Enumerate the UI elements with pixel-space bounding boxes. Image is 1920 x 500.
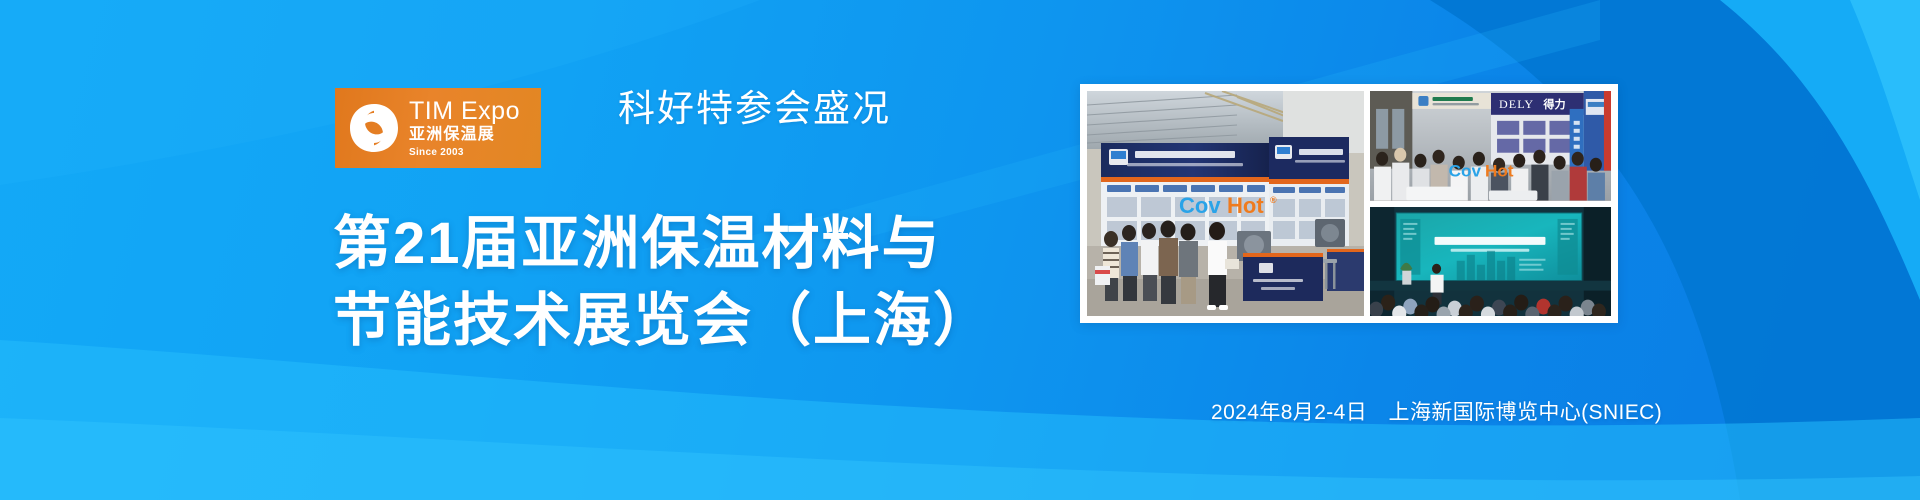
svg-text:DELY: DELY [1499, 97, 1534, 111]
svg-text:Cov: Cov [1449, 162, 1482, 181]
headline-line-1: 第21届亚洲保温材料与 [333, 205, 993, 282]
forum-stage-photo[interactable] [1370, 207, 1611, 317]
logo-subtitle: 亚洲保温展 [409, 127, 520, 143]
logo-text-block: TIM Expo 亚洲保温展 Since 2003 [409, 99, 520, 158]
svg-text:®: ® [1270, 195, 1277, 205]
logo-since-year: Since 2003 [409, 148, 520, 158]
collage-right-column: DELY 得力 [1370, 91, 1611, 316]
exhibition-promo-banner: TIM Expo 亚洲保温展 Since 2003 科好特参会盛况 第21届亚洲… [0, 0, 1920, 500]
tim-expo-swoosh-icon [347, 101, 401, 155]
svg-text:Hot: Hot [1227, 193, 1264, 218]
tagline: 科好特参会盛况 [618, 78, 891, 132]
tim-expo-logo-badge[interactable]: TIM Expo 亚洲保温展 Since 2003 [335, 88, 541, 168]
page-title: 第21届亚洲保温材料与 节能技术展览会（上海） [333, 205, 993, 359]
svg-text:得力: 得力 [1542, 97, 1565, 111]
headline-line-2: 节能技术展览会（上海） [333, 282, 993, 359]
svg-text:Cov: Cov [1179, 193, 1221, 218]
photo-collage: Cov Hot ® [1080, 84, 1618, 323]
exhibition-booth-photo[interactable]: Cov Hot ® [1087, 91, 1364, 316]
exhibition-crowd-photo[interactable]: DELY 得力 [1370, 91, 1611, 201]
svg-text:Hot: Hot [1485, 162, 1514, 181]
logo-title: TIM Expo [409, 99, 520, 124]
date-venue-text: 2024年8月2-4日 上海新国际博览中心(SNIEC) [1211, 396, 1662, 426]
